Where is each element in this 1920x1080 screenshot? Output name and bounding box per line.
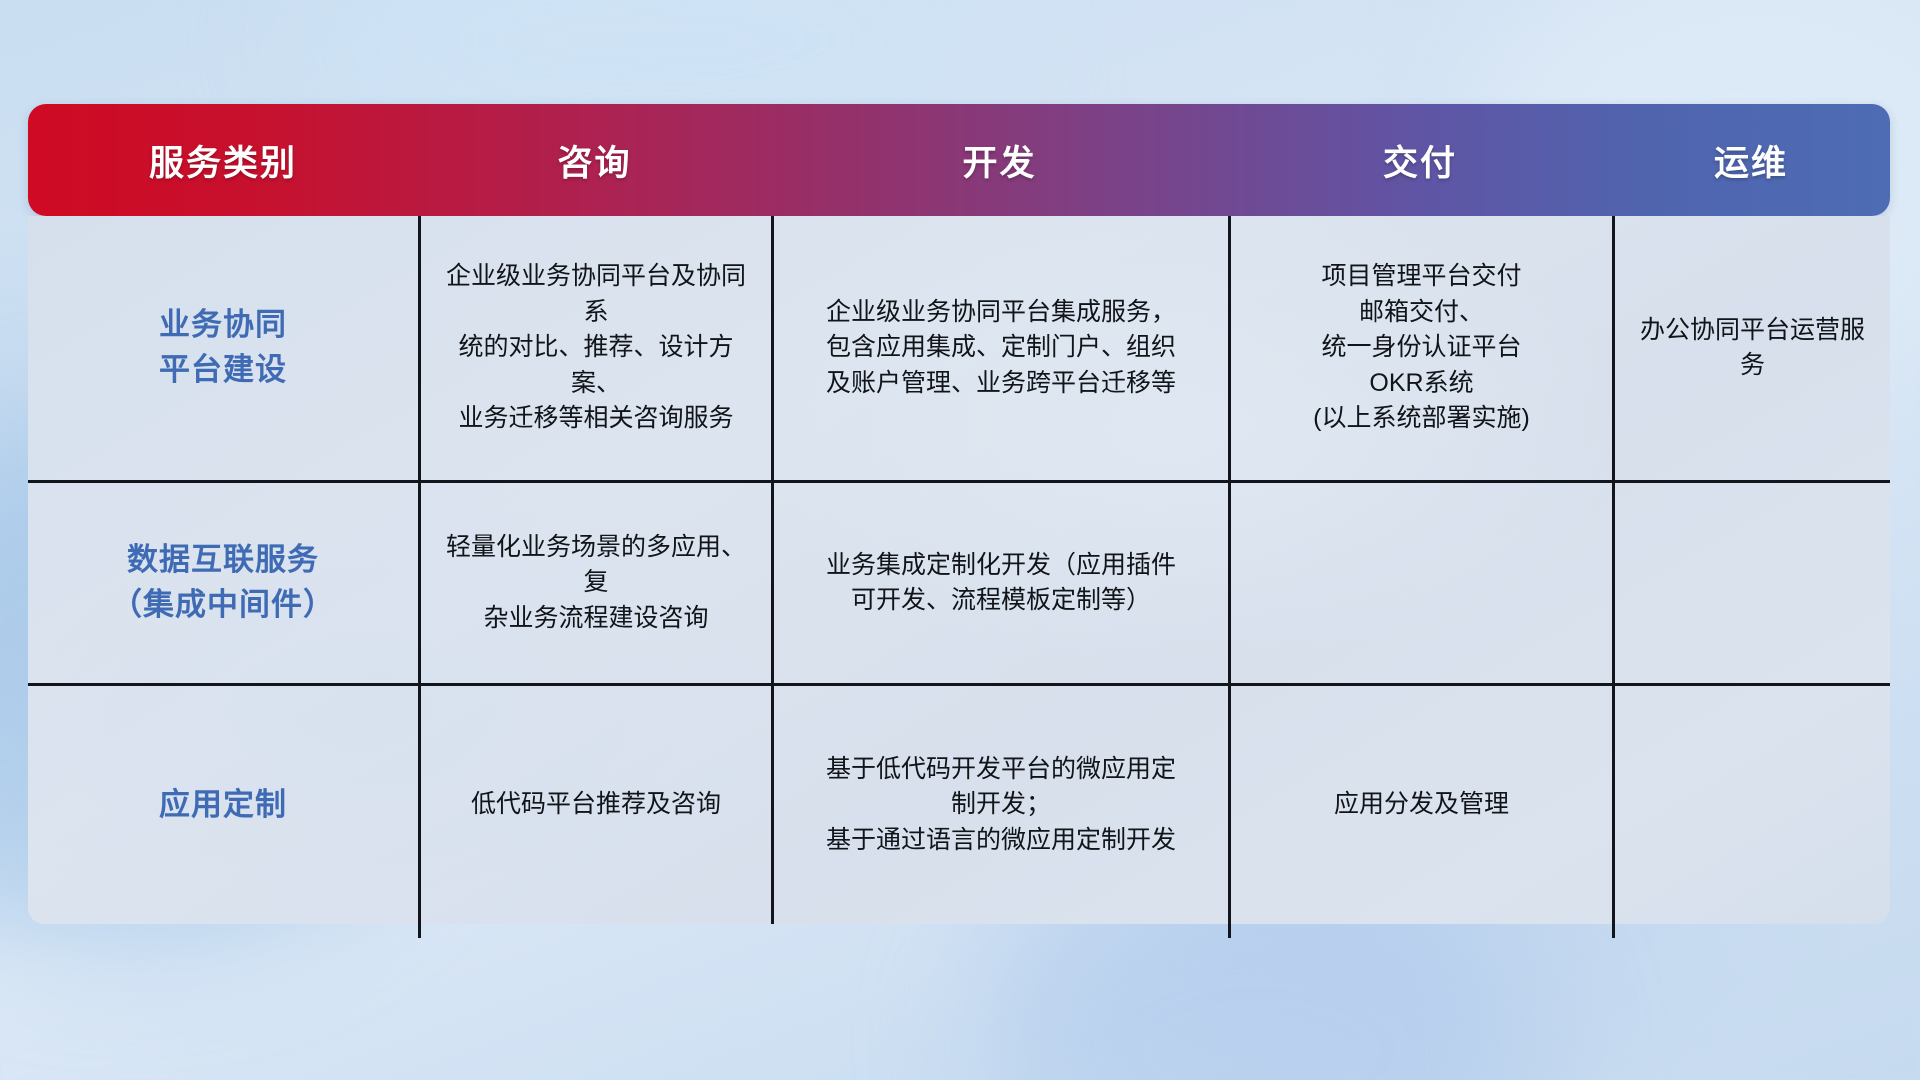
row-3-cell-development: 基于低代码开发平台的微应用定 制开发； 基于通过语言的微应用定制开发 — [771, 686, 1228, 924]
service-matrix-table: 服务类别 咨询 开发 交付 运维 业务协同 平台建设 企业级业务协同平台及协同系… — [28, 104, 1890, 924]
column-header-operations-label: 运维 — [1714, 135, 1788, 186]
column-header-category-label: 服务类别 — [149, 135, 297, 186]
row-2-cell-category: 数据互联服务 （集成中间件） — [28, 483, 418, 683]
row-2-cell-operations — [1612, 483, 1890, 683]
row-2-cell-delivery — [1228, 483, 1612, 683]
row-1-cell-consulting: 企业级业务协同平台及协同系 统的对比、推荐、设计方案、 业务迁移等相关咨询服务 — [418, 216, 771, 480]
column-header-development: 开发 — [771, 104, 1228, 216]
column-header-consulting-label: 咨询 — [557, 135, 631, 186]
grid-divider-extension — [1228, 924, 1231, 938]
column-header-category: 服务类别 — [28, 104, 418, 216]
column-header-operations: 运维 — [1612, 104, 1890, 216]
row-3-cell-delivery: 应用分发及管理 — [1228, 686, 1612, 924]
table-row: 业务协同 平台建设 企业级业务协同平台及协同系 统的对比、推荐、设计方案、 业务… — [28, 216, 1890, 483]
column-header-delivery: 交付 — [1228, 104, 1612, 216]
row-1-cell-category: 业务协同 平台建设 — [28, 216, 418, 480]
row-2-cell-development: 业务集成定制化开发（应用插件 可开发、流程模板定制等） — [771, 483, 1228, 683]
column-header-consulting: 咨询 — [418, 104, 771, 216]
grid-divider-extension — [418, 924, 421, 938]
row-3-cell-category: 应用定制 — [28, 686, 418, 924]
row-1-cell-development: 企业级业务协同平台集成服务， 包含应用集成、定制门户、组织 及账户管理、业务跨平… — [771, 216, 1228, 480]
grid-divider-extension — [1612, 924, 1615, 938]
row-3-cell-operations — [1612, 686, 1890, 924]
table-header-row: 服务类别 咨询 开发 交付 运维 — [28, 104, 1890, 216]
row-3-cell-consulting: 低代码平台推荐及咨询 — [418, 686, 771, 924]
row-1-cell-delivery: 项目管理平台交付 邮箱交付、 统一身份认证平台 OKR系统 (以上系统部署实施) — [1228, 216, 1612, 480]
table-row: 应用定制 低代码平台推荐及咨询 基于低代码开发平台的微应用定 制开发； 基于通过… — [28, 686, 1890, 924]
column-header-development-label: 开发 — [962, 135, 1036, 186]
table-body: 业务协同 平台建设 企业级业务协同平台及协同系 统的对比、推荐、设计方案、 业务… — [28, 216, 1890, 924]
row-1-cell-operations: 办公协同平台运营服务 — [1612, 216, 1890, 480]
row-2-cell-consulting: 轻量化业务场景的多应用、复 杂业务流程建设咨询 — [418, 483, 771, 683]
column-header-delivery-label: 交付 — [1383, 135, 1457, 186]
table-row: 数据互联服务 （集成中间件） 轻量化业务场景的多应用、复 杂业务流程建设咨询 业… — [28, 483, 1890, 686]
